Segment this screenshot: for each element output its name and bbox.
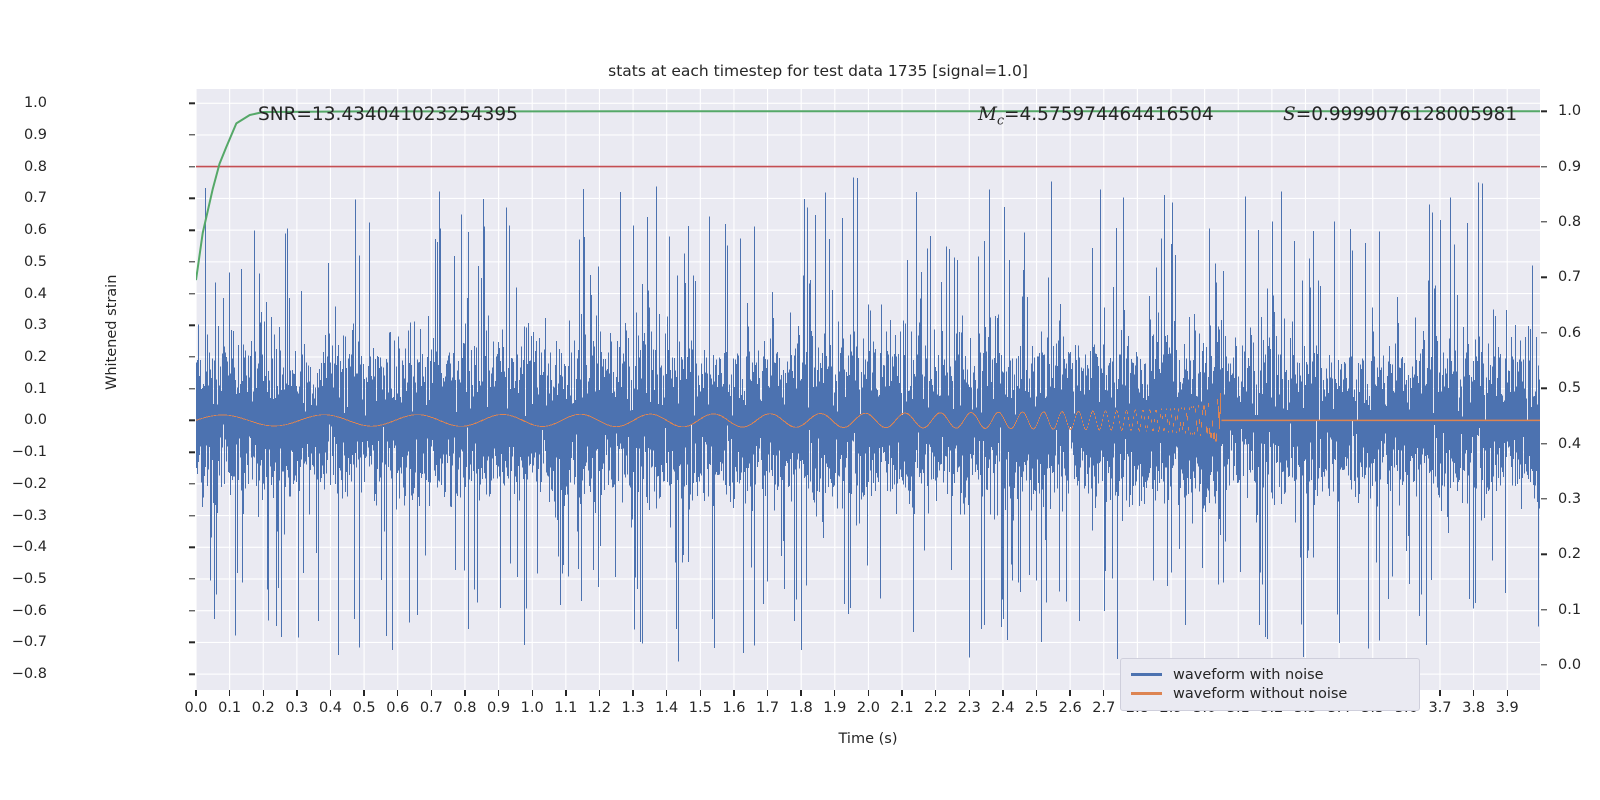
x-tick-label: 1.3 — [622, 700, 645, 716]
x-tick-mark — [599, 690, 600, 696]
annotation-chirp-mass: Mc=4.575974464416504 — [978, 104, 1214, 128]
annotation-snr: SNR=13.434041023254395 — [258, 104, 518, 125]
x-tick-mark — [1036, 690, 1037, 696]
y-axis-label-left: Whitened strain — [104, 275, 120, 390]
y-tick-label-left: −0.5 — [0, 571, 47, 587]
x-tick-label: 0.9 — [487, 700, 510, 716]
y-tick-label-right: 0.2 — [1558, 546, 1600, 562]
x-tick-mark — [700, 690, 701, 696]
y-tick-mark-right — [1541, 110, 1547, 111]
x-tick-label: 2.1 — [891, 700, 914, 716]
y-tick-label-left: 1.0 — [0, 95, 47, 111]
annotation-chirp-mass-text: =4.575974464416504 — [1004, 104, 1214, 125]
x-tick-label: 1.2 — [588, 700, 611, 716]
x-tick-mark — [1439, 690, 1440, 696]
x-tick-mark — [632, 690, 633, 696]
y-tick-mark-left — [189, 198, 195, 199]
legend-color-swatch — [1131, 692, 1162, 694]
x-tick-label: 0.3 — [285, 700, 308, 716]
x-tick-mark — [901, 690, 902, 696]
x-tick-label: 3.9 — [1496, 700, 1519, 716]
x-tick-label: 0.4 — [319, 700, 342, 716]
x-tick-mark — [969, 690, 970, 696]
x-tick-label: 0.6 — [386, 700, 409, 716]
chirp-mass-symbol: Mc — [978, 104, 1004, 125]
x-tick-mark — [498, 690, 499, 696]
y-tick-label-right: 0.6 — [1558, 325, 1600, 341]
x-tick-label: 0.8 — [453, 700, 476, 716]
y-tick-mark-left — [189, 420, 195, 421]
legend: waveform with noisewaveform without nois… — [1120, 658, 1420, 711]
x-tick-mark — [834, 690, 835, 696]
x-tick-label: 0.1 — [218, 700, 241, 716]
page-title: stats at each timestep for test data 173… — [196, 62, 1440, 80]
y-tick-mark-right — [1541, 332, 1547, 333]
x-tick-mark — [532, 690, 533, 696]
x-tick-mark — [733, 690, 734, 696]
y-tick-mark-left — [189, 134, 195, 135]
x-tick-mark — [868, 690, 869, 696]
y-tick-mark-left — [189, 642, 195, 643]
legend-item: waveform without noise — [1131, 684, 1409, 703]
x-tick-mark — [565, 690, 566, 696]
y-tick-label-left: 0.2 — [0, 349, 47, 365]
y-tick-mark-left — [189, 325, 195, 326]
y-tick-label-right: 0.1 — [1558, 602, 1600, 618]
y-tick-mark-right — [1541, 498, 1547, 499]
score-symbol: S — [1283, 104, 1296, 125]
x-tick-mark — [263, 690, 264, 696]
x-tick-label: 1.0 — [521, 700, 544, 716]
y-tick-mark-right — [1541, 166, 1547, 167]
y-tick-mark-left — [189, 103, 195, 104]
y-tick-mark-left — [189, 166, 195, 167]
x-tick-mark — [1069, 690, 1070, 696]
x-tick-label: 3.8 — [1462, 700, 1485, 716]
annotation-score-text: =0.9999076128005981 — [1296, 104, 1517, 125]
y-tick-mark-right — [1541, 221, 1547, 222]
x-tick-mark — [1507, 690, 1508, 696]
y-tick-label-left: −0.4 — [0, 539, 47, 555]
x-tick-mark — [464, 690, 465, 696]
y-tick-mark-left — [189, 610, 195, 611]
x-tick-mark — [229, 690, 230, 696]
legend-item-label: waveform without noise — [1173, 686, 1347, 702]
y-tick-label-right: 0.7 — [1558, 269, 1600, 285]
y-tick-label-left: −0.2 — [0, 476, 47, 492]
x-tick-mark — [1103, 690, 1104, 696]
x-tick-mark — [397, 690, 398, 696]
y-tick-mark-right — [1541, 443, 1547, 444]
x-tick-mark — [195, 690, 196, 696]
y-tick-label-left: −0.8 — [0, 666, 47, 682]
y-tick-label-right: 0.0 — [1558, 657, 1600, 673]
y-tick-label-left: 0.6 — [0, 222, 47, 238]
y-tick-label-right: 0.4 — [1558, 436, 1600, 452]
x-axis-label: Time (s) — [196, 731, 1540, 747]
y-tick-label-left: 0.7 — [0, 190, 47, 206]
x-tick-mark — [296, 690, 297, 696]
x-tick-label: 1.6 — [722, 700, 745, 716]
x-tick-label: 1.4 — [655, 700, 678, 716]
x-tick-label: 1.5 — [689, 700, 712, 716]
x-tick-label: 2.7 — [1092, 700, 1115, 716]
legend-item: waveform with noise — [1131, 665, 1409, 684]
y-tick-mark-left — [189, 451, 195, 452]
y-tick-label-left: −0.1 — [0, 444, 47, 460]
x-tick-label: 2.0 — [857, 700, 880, 716]
y-tick-mark-right — [1541, 387, 1547, 388]
y-tick-label-left: 0.0 — [0, 412, 47, 428]
annotation-score: S=0.9999076128005981 — [1283, 104, 1517, 125]
y-tick-mark-left — [189, 356, 195, 357]
x-tick-mark — [1002, 690, 1003, 696]
y-tick-mark-left — [189, 673, 195, 674]
x-tick-mark — [1473, 690, 1474, 696]
y-tick-mark-left — [189, 229, 195, 230]
legend-color-swatch — [1131, 673, 1162, 675]
x-tick-label: 2.2 — [924, 700, 947, 716]
y-tick-mark-right — [1541, 664, 1547, 665]
y-tick-mark-left — [189, 293, 195, 294]
y-tick-label-left: 0.1 — [0, 381, 47, 397]
y-tick-label-right: 0.3 — [1558, 491, 1600, 507]
x-tick-label: 2.4 — [991, 700, 1014, 716]
x-tick-label: 2.3 — [958, 700, 981, 716]
x-tick-mark — [431, 690, 432, 696]
y-tick-mark-right — [1541, 554, 1547, 555]
y-tick-label-left: 0.9 — [0, 127, 47, 143]
y-tick-label-right: 0.8 — [1558, 214, 1600, 230]
y-tick-label-left: −0.6 — [0, 603, 47, 619]
x-tick-label: 1.9 — [823, 700, 846, 716]
data-layer — [196, 89, 1540, 690]
y-tick-label-left: −0.7 — [0, 634, 47, 650]
y-tick-label-right: 0.5 — [1558, 380, 1600, 396]
x-tick-mark — [330, 690, 331, 696]
figure-canvas: stats at each timestep for test data 173… — [0, 0, 1600, 800]
x-tick-label: 2.5 — [1025, 700, 1048, 716]
y-tick-mark-left — [189, 547, 195, 548]
y-tick-mark-left — [189, 483, 195, 484]
y-tick-mark-left — [189, 388, 195, 389]
x-tick-label: 0.0 — [184, 700, 207, 716]
y-tick-label-left: 0.3 — [0, 317, 47, 333]
y-tick-mark-right — [1541, 277, 1547, 278]
y-tick-mark-left — [189, 578, 195, 579]
y-tick-label-left: 0.4 — [0, 286, 47, 302]
x-tick-label: 0.7 — [420, 700, 443, 716]
y-tick-label-right: 1.0 — [1558, 103, 1600, 119]
x-tick-label: 3.7 — [1428, 700, 1451, 716]
x-tick-label: 0.5 — [353, 700, 376, 716]
x-tick-mark — [666, 690, 667, 696]
y-tick-mark-left — [189, 515, 195, 516]
x-tick-label: 1.7 — [756, 700, 779, 716]
x-tick-mark — [767, 690, 768, 696]
y-tick-label-left: 0.5 — [0, 254, 47, 270]
annotation-snr-text: SNR=13.434041023254395 — [258, 104, 518, 125]
x-tick-mark — [363, 690, 364, 696]
plot-area — [196, 89, 1540, 690]
x-tick-label: 1.8 — [790, 700, 813, 716]
x-tick-mark — [800, 690, 801, 696]
x-tick-label: 0.2 — [252, 700, 275, 716]
x-tick-mark — [935, 690, 936, 696]
y-tick-label-left: 0.8 — [0, 159, 47, 175]
legend-item-label: waveform with noise — [1173, 667, 1324, 683]
x-tick-label: 1.1 — [554, 700, 577, 716]
x-tick-label: 2.6 — [1059, 700, 1082, 716]
y-tick-mark-right — [1541, 609, 1547, 610]
y-tick-label-right: 0.9 — [1558, 159, 1600, 175]
y-tick-label-left: −0.3 — [0, 508, 47, 524]
y-tick-mark-left — [189, 261, 195, 262]
